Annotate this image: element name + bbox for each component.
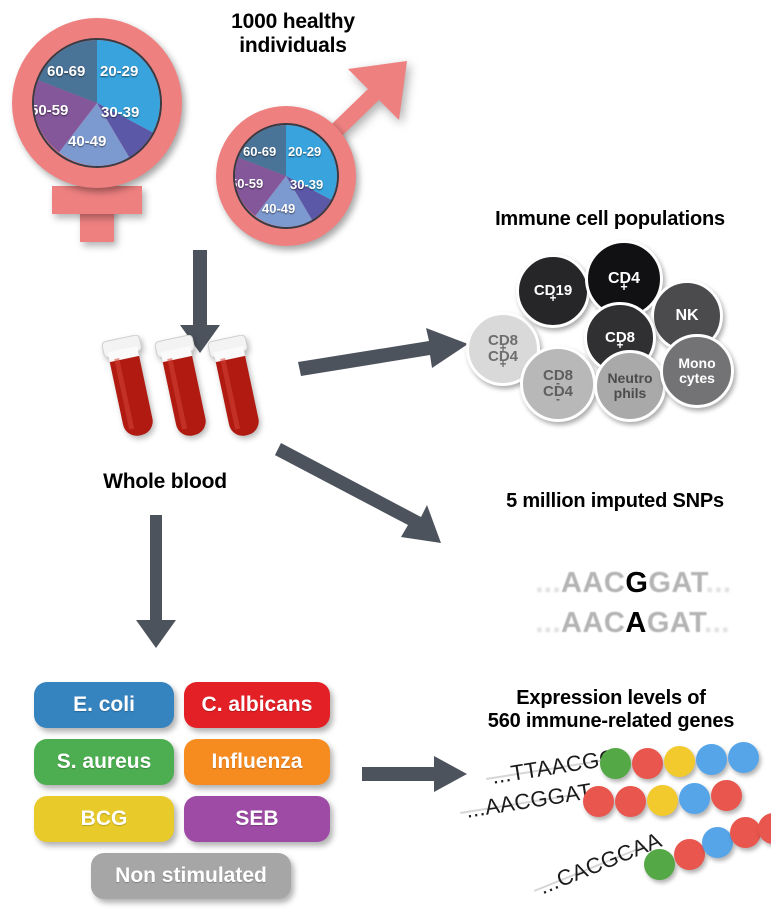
cell-label: CD19+ (534, 283, 572, 299)
female-pie-label-60-69: 60-69 (47, 63, 85, 80)
stimulus-label: Influenza (211, 750, 302, 774)
female-symbol: 20-29 30-39 40-49 50-59 60-69 (8, 14, 188, 239)
stimulus-influenza[interactable]: Influenza (184, 739, 330, 785)
female-pie-label-20-29: 20-29 (100, 63, 138, 80)
gene-bead (644, 849, 675, 880)
cell-label-line-1: Mono (678, 356, 715, 371)
cell-label-line-2: cytes (679, 371, 715, 386)
cell-label: NK (675, 308, 698, 325)
gene-bead (696, 744, 727, 775)
snp-seq-2-left: AAC (561, 607, 625, 639)
arrow-blood-to-snps (275, 435, 460, 550)
figure-canvas: 1000 healthy individuals 20-29 30-39 40-… (0, 0, 771, 922)
cell-label-line-2: CD4+ (488, 349, 518, 365)
stimulus-label: E. coli (73, 693, 135, 717)
stimulus-non-stimulated[interactable]: Non stimulated (91, 853, 291, 899)
female-pie-label-40-49: 40-49 (68, 133, 106, 150)
stimulus-seb[interactable]: SEB (184, 796, 330, 842)
gene-bead (679, 783, 710, 814)
stimulus-bcg[interactable]: BCG (34, 796, 174, 842)
cell-label-line-1: CD8- (543, 368, 573, 384)
snp-seq-2-variant: A (625, 607, 646, 639)
stimulus-label: C. albicans (202, 693, 313, 717)
cell-label: CD8+ (605, 330, 635, 346)
expression-heading-line-2: 560 immune-related genes (456, 710, 766, 733)
blood-tubes (98, 335, 278, 455)
immune-heading: Immune cell populations (455, 208, 765, 231)
snp-seq-2-prefix: ... (535, 607, 561, 639)
cohort-heading: 1000 healthy individuals (178, 10, 408, 59)
female-pie-label-30-39: 30-39 (101, 104, 139, 121)
expression-heading: Expression levels of 560 immune-related … (456, 687, 766, 733)
cell-label-line-1: CD8+ (488, 333, 518, 349)
male-age-pie: 20-29 30-39 40-49 50-59 60-69 (233, 123, 339, 229)
female-stem-crossbar (52, 186, 142, 214)
arrow-blood-to-immune (296, 320, 471, 380)
male-pie-label-30-39: 30-39 (290, 177, 323, 192)
immune-cell-cluster: CD8+ CD4+ CD19+ CD4+ NK CD8+ CD8- CD4- N… (466, 240, 756, 420)
male-symbol: 20-29 30-39 40-49 50-59 60-69 (202, 58, 417, 248)
cell-label-line-1: Neutro (607, 371, 652, 386)
gene-bead (632, 748, 663, 779)
snp-sequence-2: ...AACAGAT... (484, 574, 734, 608)
female-pie-label-50-59: 50-59 (32, 102, 68, 119)
immune-cell-cd19pos: CD19+ (516, 254, 590, 328)
gene-bead (600, 748, 631, 779)
snps-heading: 5 million imputed SNPs (470, 490, 760, 513)
female-age-pie: 20-29 30-39 40-49 50-59 60-69 (32, 38, 162, 168)
gene-bead (664, 746, 695, 777)
cell-label: CD4+ (608, 271, 640, 288)
snp-sequence-1: ...AACGGAT... (484, 534, 734, 568)
strand-2-sequence: ...AACGGAT (464, 778, 594, 824)
male-pie-label-50-59: 50-59 (233, 176, 263, 191)
gene-bead (647, 785, 678, 816)
male-pie-label-60-69: 60-69 (243, 144, 276, 159)
gene-bead (583, 786, 614, 817)
whole-blood-label-text: Whole blood (103, 470, 227, 493)
snp-seq-2-right: GAT (647, 607, 704, 639)
male-pie-label-20-29: 20-29 (288, 144, 321, 159)
whole-blood-label: Whole blood (75, 470, 255, 494)
immune-cell-neutrophils: Neutro phils (594, 350, 666, 422)
gene-bead (674, 839, 705, 870)
blood-tubes-svg (98, 335, 278, 455)
gene-bead (728, 742, 759, 773)
cell-label-line-2: phils (614, 386, 647, 401)
snp-seq-2-suffix: ... (704, 607, 730, 639)
immune-cell-cd8neg-cd4neg: CD8- CD4- (520, 346, 596, 422)
gene-bead (711, 780, 742, 811)
arrow-blood-to-stimuli (125, 515, 185, 650)
stimulus-c-albicans[interactable]: C. albicans (184, 682, 330, 728)
stimulus-label: BCG (81, 807, 128, 831)
cohort-heading-text: 1000 healthy individuals (178, 10, 408, 59)
immune-cell-monocytes: Mono cytes (660, 334, 734, 408)
stimulus-label: Non stimulated (115, 864, 267, 888)
arrow-stimuli-to-expression (362, 752, 472, 802)
immune-heading-text: Immune cell populations (495, 208, 725, 230)
gene-bead (702, 827, 733, 858)
expression-heading-line-1: Expression levels of (456, 687, 766, 710)
cell-label-line-2: CD4- (543, 384, 573, 400)
stimulus-e-coli[interactable]: E. coli (34, 682, 174, 728)
stimulus-label: S. aureus (57, 750, 152, 774)
snps-heading-text: 5 million imputed SNPs (506, 490, 724, 512)
male-pie-label-40-49: 40-49 (262, 201, 295, 216)
stimulus-s-aureus[interactable]: S. aureus (34, 739, 174, 785)
stimulus-label: SEB (235, 807, 278, 831)
snp-seq-2-text: ...AACAGAT... (484, 574, 730, 673)
gene-bead (730, 817, 761, 848)
gene-bead (615, 786, 646, 817)
gene-strand-3: ...CACGCAA (534, 835, 771, 910)
